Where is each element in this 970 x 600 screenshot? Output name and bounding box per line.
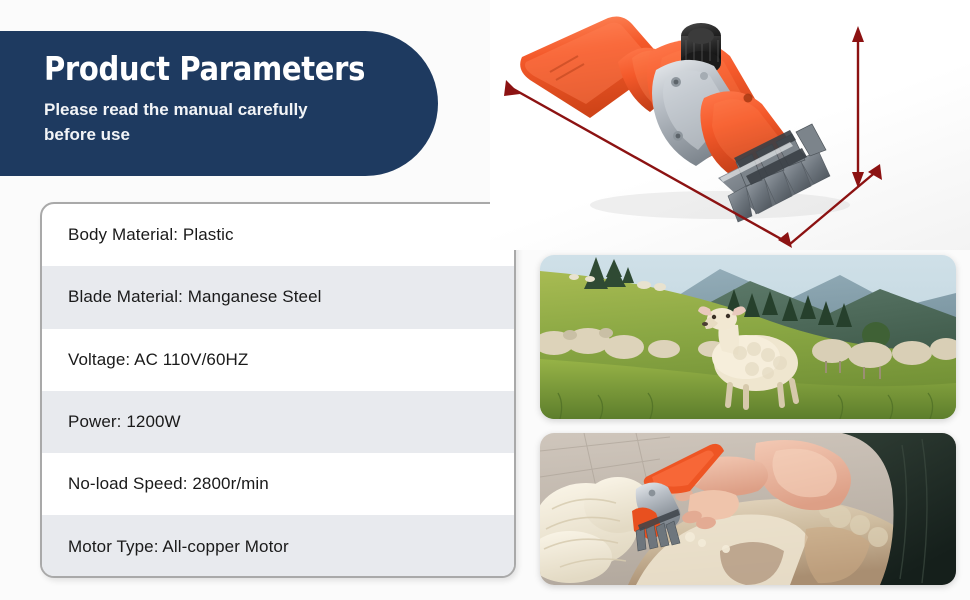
spec-row-motor-type: Motor Type: All-copper Motor	[42, 515, 514, 577]
photo-sheep-shearing	[540, 433, 956, 585]
specification-list: Body Material: Plastic Blade Material: M…	[40, 202, 516, 578]
product-parameters-infographic: Product Parameters Please read the manua…	[0, 0, 970, 600]
photo-sheep-pasture	[540, 255, 956, 419]
header-banner: Product Parameters Please read the manua…	[0, 31, 438, 176]
spec-row-power: Power: 1200W	[42, 391, 514, 453]
spec-row-body-material: Body Material: Plastic	[42, 204, 514, 266]
spec-row-no-load-speed: No-load Speed: 2800r/min	[42, 453, 514, 515]
spec-row-voltage: Voltage: AC 110V/60HZ	[42, 329, 514, 391]
page-title: Product Parameters	[44, 49, 391, 89]
spec-row-blade-material: Blade Material: Manganese Steel	[42, 266, 514, 328]
product-hero-image: 10cm/3.9inch 26cm/10inch 9cm/3.5inch	[490, 0, 970, 250]
dimension-arrows	[490, 0, 970, 250]
banner-subtitle: Please read the manual carefully before …	[44, 97, 364, 147]
